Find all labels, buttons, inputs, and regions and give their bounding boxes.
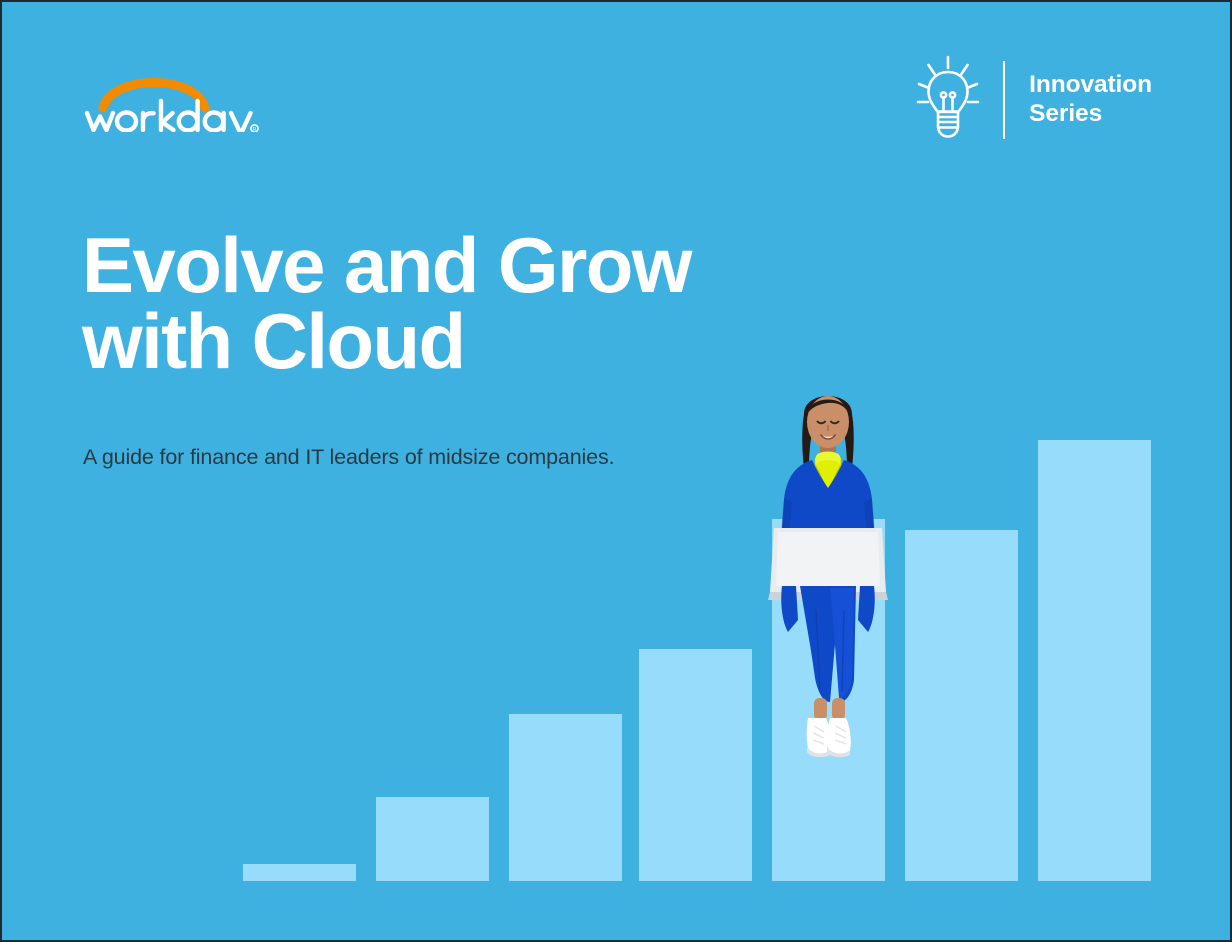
bar-2 [376, 797, 489, 881]
bar-3 [509, 714, 622, 881]
bar-7 [1038, 440, 1151, 881]
page-title: Evolve and Grow with Cloud [82, 228, 842, 379]
woman-with-laptop-illustration [760, 380, 896, 762]
bar-4 [639, 649, 752, 881]
bar-1 [243, 864, 356, 881]
bar-6 [905, 530, 1018, 881]
sneakers [807, 718, 851, 757]
cover-page: R [2, 2, 1230, 940]
page-subtitle: A guide for finance and IT leaders of mi… [83, 444, 614, 472]
